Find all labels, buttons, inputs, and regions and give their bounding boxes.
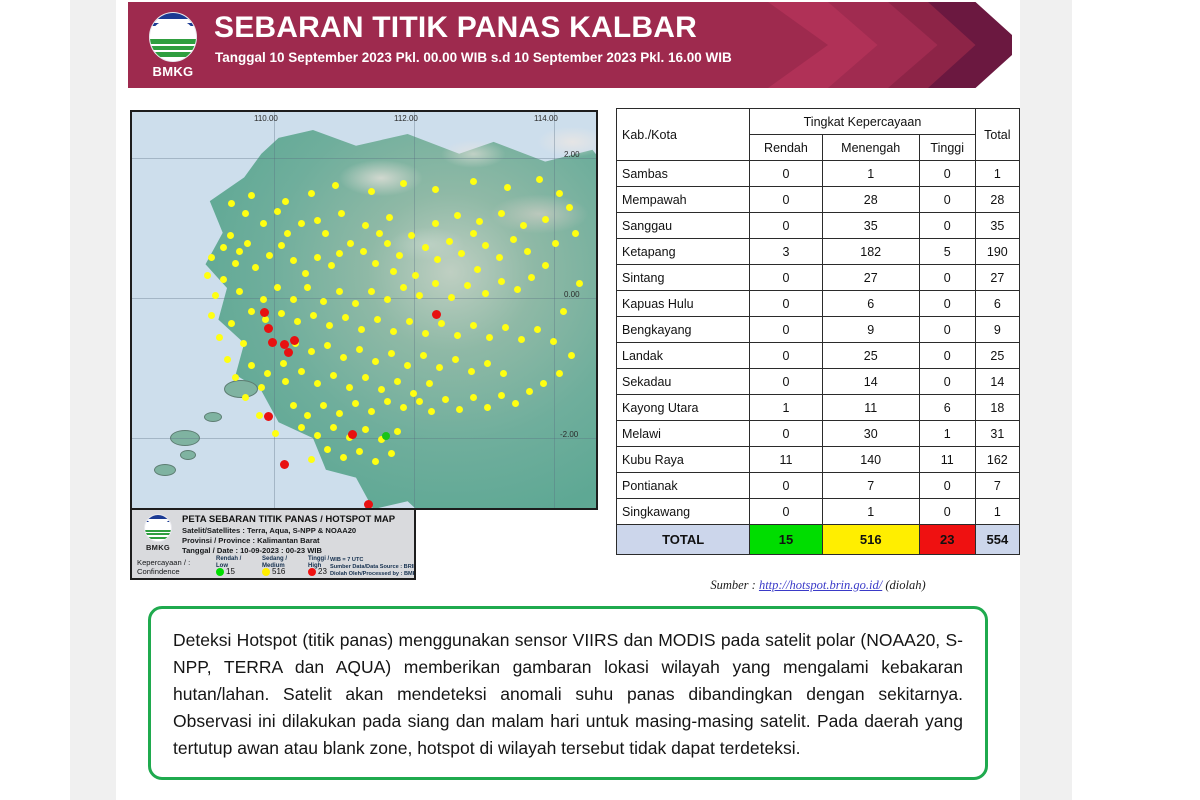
cell-low: 0 bbox=[750, 213, 822, 239]
map-canvas[interactable]: 110.00 112.00 114.00 2.00 0.00 -2.00 bbox=[130, 110, 598, 510]
hotspot-dot-medium bbox=[376, 230, 383, 237]
cell-total: 35 bbox=[975, 213, 1019, 239]
table-row[interactable]: Sambas0101 bbox=[617, 161, 1020, 187]
map-legend-logo-text: BMKG bbox=[146, 543, 170, 552]
hotspot-dot-medium bbox=[290, 402, 297, 409]
cell-high: 0 bbox=[919, 291, 975, 317]
hotspot-dot-medium bbox=[560, 308, 567, 315]
hotspot-dot-medium bbox=[272, 430, 279, 437]
hotspot-dot-medium bbox=[280, 360, 287, 367]
source-link[interactable]: http://hotspot.brin.go.id/ bbox=[759, 578, 882, 592]
table-row[interactable]: Kubu Raya1114011162 bbox=[617, 447, 1020, 473]
hotspot-dot-medium bbox=[308, 456, 315, 463]
map-lat-tick-minus2: -2.00 bbox=[560, 430, 578, 439]
hotspot-dot-medium bbox=[266, 252, 273, 259]
hotspot-dot-medium bbox=[332, 182, 339, 189]
hotspot-dot-medium bbox=[556, 190, 563, 197]
hotspot-map: 110.00 112.00 114.00 2.00 0.00 -2.00 bbox=[130, 110, 598, 580]
cell-low: 3 bbox=[750, 239, 822, 265]
hotspot-dot-medium bbox=[400, 284, 407, 291]
bmkg-logo-icon bbox=[144, 514, 172, 542]
hotspot-dot-medium bbox=[204, 272, 211, 279]
hotspot-dot-medium bbox=[274, 208, 281, 215]
hotspot-dot-medium bbox=[342, 314, 349, 321]
table-row[interactable]: Ketapang31825190 bbox=[617, 239, 1020, 265]
page-subtitle: Tanggal 10 September 2023 Pkl. 00.00 WIB… bbox=[215, 50, 732, 65]
hotspot-dot-medium bbox=[390, 268, 397, 275]
hotspot-dot-medium bbox=[264, 370, 271, 377]
hotspot-dot-medium bbox=[456, 406, 463, 413]
hotspot-table-container: Kab./Kota Tingkat Kepercayaan Total Rend… bbox=[616, 108, 1020, 555]
hotspot-dot-medium bbox=[404, 362, 411, 369]
legend-low-dot-icon bbox=[216, 568, 224, 576]
cell-high: 6 bbox=[919, 395, 975, 421]
cell-region: Sekadau bbox=[617, 369, 750, 395]
cell-medium: 6 bbox=[822, 291, 919, 317]
hotspot-dot-medium bbox=[284, 230, 291, 237]
cell-total: 190 bbox=[975, 239, 1019, 265]
hotspot-dot-medium bbox=[258, 384, 265, 391]
hotspot-dot-medium bbox=[434, 256, 441, 263]
hotspot-dot-medium bbox=[362, 426, 369, 433]
hotspot-dot-medium bbox=[572, 230, 579, 237]
confidence-label-id: Kepercayaan / : bbox=[137, 558, 190, 567]
hotspot-dot-low bbox=[382, 432, 390, 440]
hotspot-dot-medium bbox=[324, 342, 331, 349]
cell-high: 0 bbox=[919, 343, 975, 369]
hotspot-dot-medium bbox=[308, 348, 315, 355]
hotspot-dot-medium bbox=[552, 240, 559, 247]
cell-total: 18 bbox=[975, 395, 1019, 421]
cell-region: Kapuas Hulu bbox=[617, 291, 750, 317]
cell-low: 0 bbox=[750, 317, 822, 343]
header-region: Kab./Kota bbox=[617, 109, 750, 161]
legend-key-low-value: 15 bbox=[216, 567, 235, 576]
header-total: Total bbox=[975, 109, 1019, 161]
hotspot-dot-medium bbox=[556, 370, 563, 377]
map-legend-notes: WIB = 7 UTC Sumber Data/Data Source : BR… bbox=[330, 557, 416, 578]
table-row[interactable]: Kayong Utara111618 bbox=[617, 395, 1020, 421]
hotspot-dot-medium bbox=[304, 412, 311, 419]
cell-low: 0 bbox=[750, 265, 822, 291]
bmkg-logo: BMKG bbox=[142, 8, 204, 82]
legend-high-dot-icon bbox=[308, 568, 316, 576]
map-island bbox=[154, 464, 176, 476]
source-line: Sumber : http://hotspot.brin.go.id/ (dio… bbox=[616, 578, 1020, 593]
hotspot-dot-medium bbox=[498, 210, 505, 217]
hotspot-dot-medium bbox=[484, 404, 491, 411]
table-body: Sambas0101 Mempawah028028 Sanggau035035 … bbox=[617, 161, 1020, 555]
cell-low: 0 bbox=[750, 499, 822, 525]
hotspot-dot-medium bbox=[242, 210, 249, 217]
cell-total: 25 bbox=[975, 343, 1019, 369]
cell-low: 0 bbox=[750, 369, 822, 395]
hotspot-dot-medium bbox=[520, 222, 527, 229]
hotspot-dot-medium bbox=[442, 396, 449, 403]
hotspot-dot-medium bbox=[242, 394, 249, 401]
hotspot-dot-medium bbox=[482, 290, 489, 297]
hotspot-dot-medium bbox=[358, 326, 365, 333]
hotspot-dot-medium bbox=[314, 432, 321, 439]
legend-key-medium-value: 516 bbox=[262, 567, 285, 576]
cell-region: Landak bbox=[617, 343, 750, 369]
cell-medium: 140 bbox=[822, 447, 919, 473]
hotspot-dot-high bbox=[264, 412, 273, 421]
page-margin-left bbox=[70, 0, 116, 800]
legend-key-high-value: 23 bbox=[308, 567, 327, 576]
cell-total: 28 bbox=[975, 187, 1019, 213]
cell-high: 0 bbox=[919, 265, 975, 291]
hotspot-dot-medium bbox=[408, 232, 415, 239]
cell-low: 0 bbox=[750, 161, 822, 187]
hotspot-dot-medium bbox=[504, 184, 511, 191]
hotspot-dot-medium bbox=[432, 280, 439, 287]
hotspot-dot-medium bbox=[336, 410, 343, 417]
hotspot-dot-medium bbox=[498, 278, 505, 285]
hotspot-dot-medium bbox=[236, 288, 243, 295]
hotspot-dot-medium bbox=[322, 230, 329, 237]
hotspot-dot-medium bbox=[330, 372, 337, 379]
cell-high: 0 bbox=[919, 213, 975, 239]
legend-note-utc: WIB = 7 UTC bbox=[330, 557, 416, 564]
hotspot-dot-medium bbox=[304, 284, 311, 291]
hotspot-table: Kab./Kota Tingkat Kepercayaan Total Rend… bbox=[616, 108, 1020, 555]
hotspot-dot-medium bbox=[432, 220, 439, 227]
description-text: Deteksi Hotspot (titik panas) menggunaka… bbox=[173, 627, 963, 762]
table-row[interactable]: Melawi030131 bbox=[617, 421, 1020, 447]
legend-note-source: Sumber Data/Data Source : BRIN bbox=[330, 564, 416, 571]
map-lon-tick-114: 114.00 bbox=[534, 114, 558, 123]
table-row[interactable]: Mempawah028028 bbox=[617, 187, 1020, 213]
hotspot-dot-medium bbox=[486, 334, 493, 341]
hotspot-dot-medium bbox=[540, 380, 547, 387]
map-lat-tick-2: 2.00 bbox=[564, 150, 580, 159]
hotspot-dot-medium bbox=[290, 296, 297, 303]
hotspot-dot-medium bbox=[314, 380, 321, 387]
hotspot-dot-medium bbox=[248, 308, 255, 315]
cell-low: 0 bbox=[750, 187, 822, 213]
cell-total: 6 bbox=[975, 291, 1019, 317]
hotspot-dot-medium bbox=[568, 352, 575, 359]
cell-high: 0 bbox=[919, 473, 975, 499]
hotspot-dot-medium bbox=[256, 412, 263, 419]
hotspot-dot-medium bbox=[438, 320, 445, 327]
hotspot-dot-medium bbox=[458, 250, 465, 257]
screenshot-page: BMKG SEBARAN TITIK PANAS KALBAR Tanggal … bbox=[0, 0, 1200, 800]
hotspot-dot-medium bbox=[470, 394, 477, 401]
map-legend: BMKG PETA SEBARAN TITIK PANAS / HOTSPOT … bbox=[130, 508, 416, 580]
cell-medium: 25 bbox=[822, 343, 919, 369]
legend-medium-dot-icon bbox=[262, 568, 270, 576]
hotspot-dot-medium bbox=[340, 354, 347, 361]
hotspot-dot-medium bbox=[298, 424, 305, 431]
hotspot-dot-medium bbox=[228, 320, 235, 327]
cell-total: 162 bbox=[975, 447, 1019, 473]
map-gridline-horizontal bbox=[132, 438, 596, 439]
hotspot-dot-medium bbox=[374, 316, 381, 323]
cell-total: 7 bbox=[975, 473, 1019, 499]
cell-medium: 27 bbox=[822, 265, 919, 291]
hotspot-dot-medium bbox=[368, 188, 375, 195]
hotspot-dot-medium bbox=[518, 336, 525, 343]
cell-region: Pontianak bbox=[617, 473, 750, 499]
cell-region: Singkawang bbox=[617, 499, 750, 525]
hotspot-dot-medium bbox=[396, 252, 403, 259]
hotspot-dot-medium bbox=[542, 262, 549, 269]
hotspot-dot-medium bbox=[282, 378, 289, 385]
map-gridline-horizontal bbox=[132, 298, 596, 299]
map-gridline-vertical bbox=[274, 112, 275, 508]
map-legend-title: PETA SEBARAN TITIK PANAS / HOTSPOT MAP bbox=[182, 514, 395, 525]
hotspot-dot-medium bbox=[212, 292, 219, 299]
hotspot-dot-medium bbox=[346, 384, 353, 391]
hotspot-dot-high bbox=[348, 430, 357, 439]
hotspot-dot-medium bbox=[468, 368, 475, 375]
cell-region: Sanggau bbox=[617, 213, 750, 239]
page-gutter-right bbox=[1072, 0, 1200, 800]
hotspot-dot-medium bbox=[252, 264, 259, 271]
legend-medium-count: 516 bbox=[272, 567, 285, 576]
map-legend-date: Tanggal / Date : 10-09-2023 : 00-23 WIB bbox=[182, 546, 322, 555]
hotspot-dot-medium bbox=[484, 360, 491, 367]
legend-note-processed: Diolah Oleh/Processed by : BMKG bbox=[330, 571, 416, 578]
source-prefix: Sumber : bbox=[710, 578, 759, 592]
confidence-label-en: Confindence bbox=[137, 567, 190, 576]
hotspot-dot-medium bbox=[452, 356, 459, 363]
hotspot-dot-medium bbox=[514, 286, 521, 293]
table-total-row: TOTAL 15 516 23 554 bbox=[617, 525, 1020, 555]
legend-medium-id: Sedang / bbox=[262, 556, 287, 563]
cell-high: 5 bbox=[919, 239, 975, 265]
table-row[interactable]: Kapuas Hulu0606 bbox=[617, 291, 1020, 317]
table-row[interactable]: Landak025025 bbox=[617, 343, 1020, 369]
hotspot-dot-medium bbox=[368, 408, 375, 415]
cell-high: 0 bbox=[919, 369, 975, 395]
cell-high: 0 bbox=[919, 317, 975, 343]
hotspot-dot-medium bbox=[362, 222, 369, 229]
page-gutter-left bbox=[0, 0, 70, 800]
cell-low: 11 bbox=[750, 447, 822, 473]
hotspot-dot-medium bbox=[220, 276, 227, 283]
map-gridline-vertical bbox=[414, 112, 415, 508]
hotspot-dot-medium bbox=[428, 408, 435, 415]
hotspot-dot-medium bbox=[356, 448, 363, 455]
hotspot-dot-high bbox=[264, 324, 273, 333]
hotspot-dot-medium bbox=[372, 260, 379, 267]
hotspot-dot-medium bbox=[536, 176, 543, 183]
hotspot-dot-medium bbox=[360, 248, 367, 255]
cell-low: 0 bbox=[750, 421, 822, 447]
hotspot-dot-medium bbox=[372, 358, 379, 365]
cell-high: 1 bbox=[919, 421, 975, 447]
legend-low-id: Rendah / bbox=[216, 556, 241, 563]
map-legend-logo: BMKG bbox=[136, 514, 180, 556]
hotspot-dot-medium bbox=[248, 362, 255, 369]
hotspot-dot-medium bbox=[336, 288, 343, 295]
table-row[interactable]: Sanggau035035 bbox=[617, 213, 1020, 239]
table-row[interactable]: Pontianak0707 bbox=[617, 473, 1020, 499]
hotspot-dot-medium bbox=[278, 242, 285, 249]
hotspot-dot-medium bbox=[464, 282, 471, 289]
hotspot-dot-medium bbox=[510, 236, 517, 243]
hotspot-dot-medium bbox=[320, 402, 327, 409]
page-title: SEBARAN TITIK PANAS KALBAR bbox=[214, 11, 697, 45]
header-confidence-group: Tingkat Kepercayaan bbox=[750, 109, 975, 135]
hotspot-dot-medium bbox=[326, 322, 333, 329]
hotspot-dot-medium bbox=[496, 254, 503, 261]
cell-high: 0 bbox=[919, 161, 975, 187]
cell-region: Kayong Utara bbox=[617, 395, 750, 421]
cell-total: 1 bbox=[975, 499, 1019, 525]
hotspot-dot-medium bbox=[576, 280, 583, 287]
hotspot-dot-medium bbox=[388, 450, 395, 457]
map-gridline-vertical bbox=[554, 112, 555, 508]
hotspot-dot-medium bbox=[308, 190, 315, 197]
cell-region: Sintang bbox=[617, 265, 750, 291]
hotspot-dot-medium bbox=[412, 272, 419, 279]
header-banner: BMKG SEBARAN TITIK PANAS KALBAR Tanggal … bbox=[128, 2, 1012, 88]
total-label: TOTAL bbox=[617, 525, 750, 555]
cell-high: 0 bbox=[919, 499, 975, 525]
hotspot-dot-medium bbox=[236, 248, 243, 255]
map-legend-confidence-label: Kepercayaan / : Confindence bbox=[137, 558, 190, 576]
table-row[interactable]: Singkawang0101 bbox=[617, 499, 1020, 525]
hotspot-dot-medium bbox=[347, 240, 354, 247]
hotspot-dot-medium bbox=[244, 240, 251, 247]
table-row[interactable]: Sintang027027 bbox=[617, 265, 1020, 291]
hotspot-dot-medium bbox=[394, 428, 401, 435]
hotspot-dot-medium bbox=[208, 254, 215, 261]
map-legend-satellites: Satelit/Satellites : Terra, Aqua, S-NPP … bbox=[182, 526, 356, 535]
hotspot-dot-medium bbox=[470, 322, 477, 329]
cell-low: 0 bbox=[750, 291, 822, 317]
total-high: 23 bbox=[919, 525, 975, 555]
cell-medium: 7 bbox=[822, 473, 919, 499]
hotspot-dot-medium bbox=[340, 454, 347, 461]
hotspot-dot-medium bbox=[524, 248, 531, 255]
cell-total: 14 bbox=[975, 369, 1019, 395]
hotspot-dot-medium bbox=[336, 250, 343, 257]
hotspot-dot-medium bbox=[454, 212, 461, 219]
hotspot-dot-medium bbox=[274, 284, 281, 291]
hotspot-dot-medium bbox=[390, 328, 397, 335]
hotspot-dot-high bbox=[268, 338, 277, 347]
hotspot-dot-medium bbox=[368, 288, 375, 295]
total-low: 15 bbox=[750, 525, 822, 555]
map-lat-tick-0: 0.00 bbox=[564, 290, 580, 299]
hotspot-dot-medium bbox=[512, 400, 519, 407]
hotspot-dot-medium bbox=[294, 318, 301, 325]
hotspot-dot-medium bbox=[534, 326, 541, 333]
cell-region: Bengkayang bbox=[617, 317, 750, 343]
cell-total: 31 bbox=[975, 421, 1019, 447]
hotspot-dot-high bbox=[260, 308, 269, 317]
cell-region: Sambas bbox=[617, 161, 750, 187]
hotspot-dot-high bbox=[280, 460, 289, 469]
hotspot-dot-medium bbox=[454, 332, 461, 339]
hotspot-dot-medium bbox=[422, 330, 429, 337]
hotspot-dot-medium bbox=[542, 216, 549, 223]
table-row[interactable]: Sekadau014014 bbox=[617, 369, 1020, 395]
total-medium: 516 bbox=[822, 525, 919, 555]
hotspot-dot-medium bbox=[400, 180, 407, 187]
hotspot-dot-medium bbox=[386, 214, 393, 221]
hotspot-dot-medium bbox=[282, 198, 289, 205]
map-island bbox=[204, 412, 222, 422]
hotspot-dot-medium bbox=[224, 356, 231, 363]
hotspot-dot-medium bbox=[470, 178, 477, 185]
hotspot-dot-medium bbox=[320, 298, 327, 305]
hotspot-dot-medium bbox=[314, 254, 321, 261]
hotspot-dot-high bbox=[284, 348, 293, 357]
hotspot-dot-medium bbox=[378, 386, 385, 393]
hotspot-dot-medium bbox=[352, 400, 359, 407]
header-low: Rendah bbox=[750, 135, 822, 161]
map-lon-tick-112: 112.00 bbox=[394, 114, 418, 123]
hotspot-dot-medium bbox=[328, 262, 335, 269]
hotspot-dot-medium bbox=[566, 204, 573, 211]
hotspot-dot-medium bbox=[394, 378, 401, 385]
hotspot-dot-medium bbox=[426, 380, 433, 387]
table-row[interactable]: Bengkayang0909 bbox=[617, 317, 1020, 343]
map-lon-tick-110: 110.00 bbox=[254, 114, 278, 123]
hotspot-dot-medium bbox=[227, 232, 234, 239]
hotspot-dot-medium bbox=[372, 458, 379, 465]
hotspot-dot-medium bbox=[476, 218, 483, 225]
source-suffix: (diolah) bbox=[882, 578, 925, 592]
hotspot-dot-medium bbox=[388, 350, 395, 357]
hotspot-dot-medium bbox=[352, 300, 359, 307]
map-island bbox=[224, 380, 258, 398]
hotspot-dot-medium bbox=[262, 316, 269, 323]
hotspot-dot-medium bbox=[220, 244, 227, 251]
cell-medium: 9 bbox=[822, 317, 919, 343]
cell-medium: 28 bbox=[822, 187, 919, 213]
hotspot-dot-medium bbox=[474, 266, 481, 273]
cell-region: Ketapang bbox=[617, 239, 750, 265]
hotspot-dot-medium bbox=[446, 238, 453, 245]
hotspot-dot-high bbox=[290, 336, 299, 345]
bmkg-logo-text: BMKG bbox=[153, 64, 194, 79]
hotspot-dot-medium bbox=[330, 424, 337, 431]
cell-low: 0 bbox=[750, 343, 822, 369]
cell-medium: 1 bbox=[822, 499, 919, 525]
cell-low: 0 bbox=[750, 473, 822, 499]
document-body: BMKG SEBARAN TITIK PANAS KALBAR Tanggal … bbox=[116, 0, 1020, 800]
cell-medium: 1 bbox=[822, 161, 919, 187]
hotspot-dot-medium bbox=[384, 296, 391, 303]
cell-low: 1 bbox=[750, 395, 822, 421]
cell-medium: 14 bbox=[822, 369, 919, 395]
hotspot-dot-medium bbox=[248, 192, 255, 199]
cell-total: 27 bbox=[975, 265, 1019, 291]
hotspot-dot-medium bbox=[362, 374, 369, 381]
cell-total: 9 bbox=[975, 317, 1019, 343]
page-margin-right bbox=[1020, 0, 1072, 800]
hotspot-dot-medium bbox=[260, 296, 267, 303]
description-box: Deteksi Hotspot (titik panas) menggunaka… bbox=[148, 606, 988, 780]
map-legend-province: Provinsi / Province : Kalimantan Barat bbox=[182, 536, 320, 545]
hotspot-dot-medium bbox=[470, 230, 477, 237]
hotspot-dot-medium bbox=[498, 392, 505, 399]
hotspot-dot-medium bbox=[384, 398, 391, 405]
hotspot-dot-medium bbox=[406, 318, 413, 325]
hotspot-dot-medium bbox=[482, 242, 489, 249]
cell-medium: 35 bbox=[822, 213, 919, 239]
hotspot-dot-medium bbox=[232, 374, 239, 381]
hotspot-dot-medium bbox=[356, 346, 363, 353]
hotspot-dot-medium bbox=[310, 312, 317, 319]
